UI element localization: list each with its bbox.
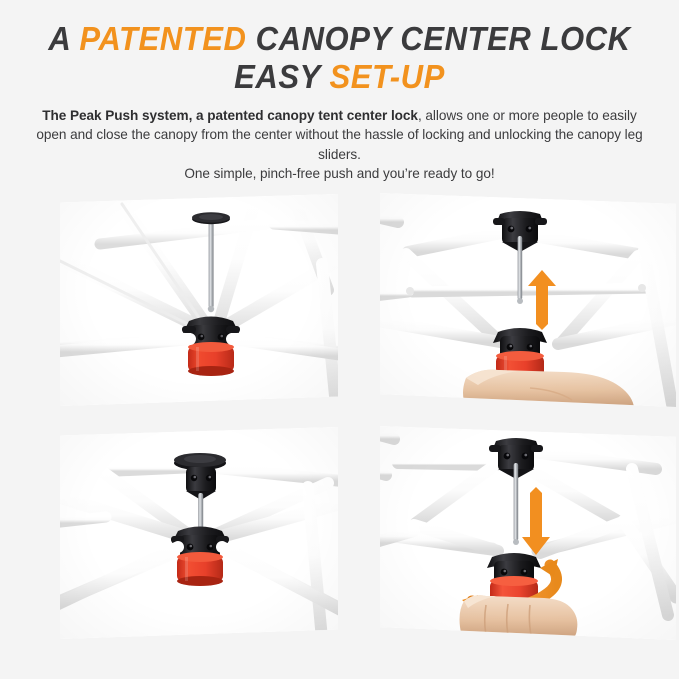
headline-line2-part1: EASY — [234, 58, 329, 95]
headline-line-2: EASY SET-UP — [20, 58, 658, 96]
panel-bottom-right — [380, 425, 676, 640]
panel-top-left — [60, 194, 338, 406]
hands-shape — [460, 595, 578, 640]
headline-block: A PATENTED CANOPY CENTER LOCK EASY SET-U… — [0, 20, 679, 96]
description-paragraph: The Peak Push system, a patented canopy … — [36, 106, 643, 184]
description-bold-lead: The Peak Push system, a patented canopy … — [42, 108, 418, 123]
canopy-frame-open-center-lock-engaged-photo — [60, 427, 338, 639]
headline-line1-part2: CANOPY CENTER LOCK — [246, 20, 630, 57]
panel-top-right — [380, 192, 676, 407]
headline-line1-accent: PATENTED — [79, 20, 246, 57]
headline-line1-part1: A — [48, 20, 79, 57]
photo-grid — [0, 180, 679, 679]
headline-line-1: A PATENTED CANOPY CENTER LOCK — [20, 20, 658, 58]
hand-pulling-center-lock-down-photo — [380, 425, 676, 640]
product-feature-infographic: A PATENTED CANOPY CENTER LOCK EASY SET-U… — [0, 0, 679, 679]
headline-line2-accent: SET-UP — [329, 58, 444, 95]
header: A PATENTED CANOPY CENTER LOCK EASY SET-U… — [0, 0, 679, 180]
canopy-frame-closed-underside-photo — [60, 194, 338, 406]
hand-pushing-center-lock-up-photo — [380, 192, 676, 407]
panel-bottom-left — [60, 427, 338, 639]
